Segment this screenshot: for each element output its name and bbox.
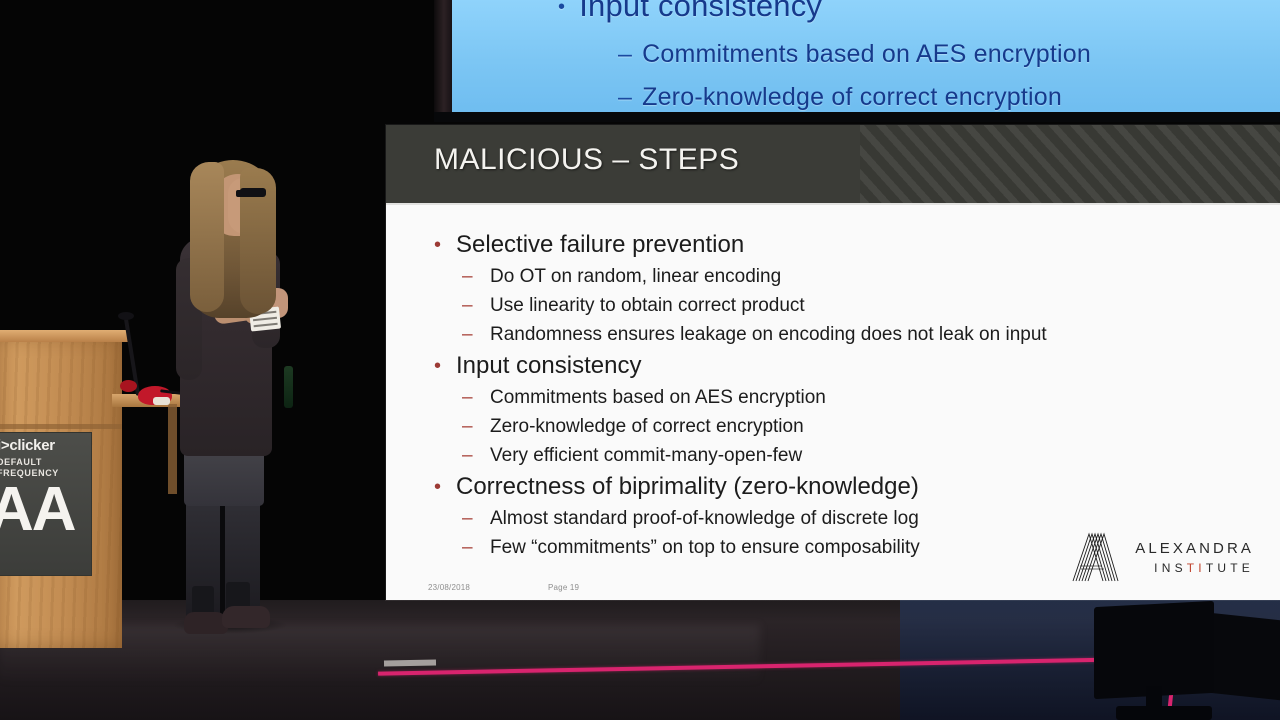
- slide-header: MALICIOUS – STEPS: [386, 125, 1280, 203]
- dash-icon: –: [462, 534, 473, 562]
- slide-header-stripe-pattern: [860, 125, 1280, 203]
- projected-dash-icon: –: [618, 40, 632, 68]
- speaker-hair-front: [190, 162, 224, 312]
- dash-icon: –: [462, 505, 473, 533]
- alexandra-institute-logo: ALEXANDRA INSTITUTE: [1069, 532, 1254, 582]
- speaker-glasses-left-lens: [236, 190, 244, 197]
- slide-sub-bullet-text: Zero-knowledge of correct encryption: [490, 416, 804, 437]
- slide-sub-bullet-text: Randomness ensures leakage on encoding d…: [490, 324, 1047, 345]
- projection-screen-frame-left: [434, 0, 452, 118]
- slide-sub-bullet: – Zero-knowledge of correct encryption: [460, 413, 1280, 441]
- projection-screen: •Input consistency –Commitments based on…: [452, 0, 1280, 112]
- slide-sub-bullet-text: Use linearity to obtain correct product: [490, 295, 805, 316]
- dash-icon: –: [462, 292, 473, 320]
- projected-bullet-glyph: •: [558, 0, 565, 18]
- podium-top-surface: [0, 330, 128, 342]
- slide-sub-bullet-text: Commitments based on AES encryption: [490, 387, 826, 408]
- iclicker-frequency-code: AA: [0, 479, 75, 541]
- slide-sub-bullet: – Very efficient commit-many-open-few: [460, 442, 1280, 470]
- slide-bullet-heading: • Selective failure prevention: [430, 229, 1280, 261]
- dash-icon: –: [462, 442, 473, 470]
- clicker-white-device: [153, 397, 170, 405]
- slide-footer: 23/08/2018 Page 19: [386, 566, 1280, 600]
- dash-icon: –: [462, 263, 473, 291]
- projected-subitem-1: –Commitments based on AES encryption: [618, 40, 1091, 69]
- projected-dash-icon-2: –: [618, 83, 632, 111]
- confidence-monitor: [1094, 601, 1214, 699]
- microphone-head: [118, 312, 134, 320]
- iclicker-line1: DEFAULT: [0, 457, 42, 467]
- clicker-base-red-secondary: [120, 380, 137, 392]
- alexandra-institute-wordmark: ALEXANDRA INSTITUTE: [1135, 541, 1254, 574]
- water-bottle: [284, 366, 293, 408]
- iclicker-brand-label: i>clicker: [0, 437, 55, 454]
- slide-bullet-heading-text: Correctness of biprimality (zero-knowled…: [456, 473, 919, 500]
- slide-sub-bullet: – Almost standard proof-of-knowledge of …: [460, 505, 1280, 533]
- projected-bullet-heading: •Input consistency: [558, 0, 822, 24]
- logo-institute-accent: TI: [1187, 561, 1206, 575]
- bullet-icon: •: [434, 229, 441, 261]
- logo-line-institute: INSTITUTE: [1135, 562, 1254, 574]
- podium-iclicker-sign: i>clicker DEFAULT FREQUENCY AA: [0, 432, 92, 576]
- slide-sub-bullet-text: Few “commitments” on top to ensure compo…: [490, 537, 920, 558]
- slide-footer-page-number: Page 19: [548, 583, 579, 592]
- slide-sub-bullet-text: Do OT on random, linear encoding: [490, 266, 781, 287]
- stage-tape-marker-left: [384, 660, 436, 667]
- slide-bullet-heading-text: Input consistency: [456, 352, 641, 379]
- slide-bullet-heading: • Correctness of biprimality (zero-knowl…: [430, 471, 1280, 503]
- projected-bullet-text: Input consistency: [579, 0, 822, 23]
- slide-title: MALICIOUS – STEPS: [434, 143, 739, 177]
- dash-icon: –: [462, 413, 473, 441]
- podium-trim: [0, 424, 122, 429]
- slide-sub-bullet: – Use linearity to obtain correct produc…: [460, 292, 1280, 320]
- slide-sub-bullet: – Do OT on random, linear encoding: [460, 263, 1280, 291]
- projected-subitem-1-text: Commitments based on AES encryption: [642, 40, 1091, 68]
- projected-subitem-2-text: Zero-knowledge of correct encryption: [642, 83, 1062, 111]
- slide-bullet-heading: • Input consistency: [430, 350, 1280, 382]
- confidence-monitor-base: [1116, 706, 1212, 720]
- slide-sub-bullet: – Commitments based on AES encryption: [460, 384, 1280, 412]
- projected-subitem-2: –Zero-knowledge of correct encryption: [618, 83, 1062, 112]
- speaker-leg-gap: [220, 500, 225, 622]
- alexandra-a-mark-icon: [1069, 532, 1123, 582]
- speaker-shoe-right: [222, 606, 270, 628]
- bullet-icon: •: [434, 350, 441, 382]
- slide-sub-bullet-text: Almost standard proof-of-knowledge of di…: [490, 508, 919, 529]
- slide-sub-bullet-text: Very efficient commit-many-open-few: [490, 445, 802, 466]
- side-table-leg: [168, 404, 177, 494]
- slide-sub-bullet: – Randomness ensures leakage on encoding…: [460, 321, 1280, 349]
- logo-line-alexandra: ALEXANDRA: [1135, 541, 1254, 556]
- slide-footer-date: 23/08/2018: [428, 583, 470, 592]
- dash-icon: –: [462, 384, 473, 412]
- video-frame: •Input consistency –Commitments based on…: [0, 0, 1280, 720]
- logo-institute-post: TUTE: [1206, 561, 1254, 575]
- dash-icon: –: [462, 321, 473, 349]
- slide-overlay: MALICIOUS – STEPS • Selective failure pr…: [386, 125, 1280, 600]
- projection-screen-frame-bottom: [434, 112, 1280, 122]
- logo-institute-pre: INS: [1154, 561, 1187, 575]
- slide-bullet-heading-text: Selective failure prevention: [456, 231, 744, 258]
- bullet-icon: •: [434, 471, 441, 503]
